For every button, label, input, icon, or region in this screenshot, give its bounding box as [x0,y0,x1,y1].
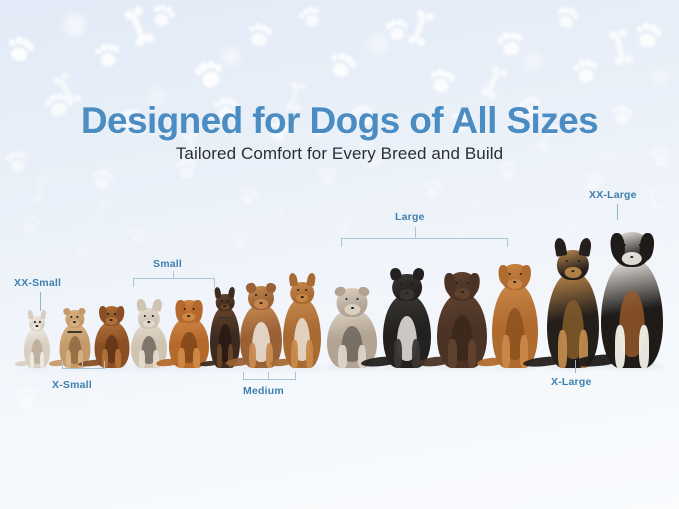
dog-front-leg [502,335,510,368]
dog-head [557,250,589,280]
dog-ear [412,267,426,282]
dog-eye [297,289,299,291]
dog-front-leg [291,340,297,368]
dog-collar [67,331,83,333]
dog-eye [566,260,568,262]
dog-german-shepherd [547,250,599,368]
dog-eye [255,294,257,296]
dog-ear [333,285,346,297]
dog-cocker-spaniel [169,300,209,368]
dog-ear [553,237,567,257]
dog-eye [70,316,72,318]
dog-ear [264,282,276,294]
dog-muzzle [622,252,642,265]
size-label-x-small-tick [82,361,83,369]
dog-nose [73,321,76,323]
dog-front-leg [448,339,457,369]
dog-eye [624,244,626,246]
dog-front-leg [249,343,256,368]
dog-vizsla [492,264,538,368]
size-label-xx-small-leader-line [40,292,41,311]
dog-front-leg [178,348,185,368]
dog-eye [638,244,640,246]
banner-image: Designed for Dogs of All Sizes Tailored … [0,0,679,509]
dog-nose [35,325,38,327]
size-label-medium-bracket [243,372,296,380]
dog-chocolate-lab [437,272,487,368]
dog-ear [63,307,72,316]
size-label-x-large-leader-line [575,360,576,373]
dog-staffordshire [240,286,282,368]
dog-head [613,232,651,267]
dog-head [248,286,274,310]
size-label-medium-tick [268,372,269,380]
dog-nose [631,256,634,258]
size-label-xx-small: XX-Small [14,277,61,289]
size-label-xx-large-leader-line [617,204,618,220]
dog-eye [39,321,41,323]
dog-head [216,294,235,311]
dog-eye [221,300,223,302]
dog-nose [148,321,151,323]
size-label-small-tick [173,271,174,279]
size-label-large-bracket [341,238,508,247]
dog-terrier-mix [59,310,90,368]
dog-collar [218,317,233,319]
dog-front-leg [468,339,477,369]
dog-ear [135,298,146,312]
dog-front-leg [338,345,347,368]
dog-eye [152,315,154,317]
dog-muzzle [565,267,582,278]
dog-eye [400,283,402,285]
dog-muzzle [508,279,523,289]
dog-nose [260,302,263,304]
dog-nose [187,315,190,317]
dog-head [392,274,422,301]
dog-nose [224,305,227,307]
dog-head [65,310,84,328]
dog-bernese [601,232,663,368]
dog-head [447,272,478,301]
dog-eye [509,273,511,275]
dog-eye [412,283,414,285]
dog-head [501,264,530,290]
dog-ear [389,267,403,282]
dog-front-leg [306,340,312,368]
dog-head [177,300,202,323]
dog-eye [192,308,194,310]
dog-eye [305,289,307,291]
dog-ear [288,272,298,287]
dog-front-leg [30,352,34,368]
dog-min-pinscher [210,294,240,368]
size-label-medium: Medium [243,385,284,397]
dog-ear [579,237,593,257]
dog-nose [571,270,574,272]
dog-dachshund [94,306,129,368]
dog-eye [345,298,347,300]
dog-nose [300,296,303,298]
dog-nose [461,291,464,293]
dog-head [29,316,45,331]
dog-eye [144,315,146,317]
dog-eye [114,313,116,315]
size-label-large-tick [415,227,416,238]
dog-ear [27,309,34,319]
dog-head [337,288,368,317]
dog-eye [578,260,580,262]
dog-ear [228,286,236,298]
dog-border-collie [383,274,431,368]
dog-basenji [283,282,321,368]
dog-eye [227,300,229,302]
dog-nose [406,292,409,294]
dog-ear [77,307,86,316]
dog-muzzle [344,304,360,315]
dog-head [138,308,160,329]
dog-eye [77,316,79,318]
dog-head [101,306,123,326]
dog-muzzle [399,289,414,299]
dog-head [290,282,314,304]
dog-front-leg [139,350,145,368]
dog-front-leg [558,330,567,368]
dog-muzzle [454,288,470,299]
dog-front-leg [639,325,650,368]
dog-front-leg [193,348,200,368]
size-label-xx-large: XX-Large [589,189,637,201]
dog-front-leg [615,325,626,368]
dog-ear [151,298,162,312]
dog-front-leg [40,352,44,368]
dog-front-leg [217,344,222,368]
dog-ear [306,272,316,287]
dog-front-leg [115,349,121,368]
dog-ear [358,285,371,297]
size-label-x-small-bracket [62,361,105,369]
dog-ear [214,286,222,298]
dog-eye [184,308,186,310]
dog-front-leg [394,339,402,368]
size-label-small-bracket [133,278,215,287]
dog-eye [107,313,109,315]
size-label-x-small: X-Small [52,379,92,391]
dog-ear [245,282,257,294]
dog-nose [110,319,113,321]
size-label-small: Small [153,258,182,270]
dog-eye [357,298,359,300]
size-label-x-large: X-Large [551,376,592,388]
dog-size-lineup [0,0,679,509]
dog-eye [33,321,35,323]
dog-nose [351,307,354,309]
dog-eye [265,294,267,296]
dog-eye [455,282,457,284]
size-label-large: Large [395,211,425,223]
dog-nose [513,281,516,283]
dog-chihuahua [24,316,50,368]
dog-english-bulldog [327,288,377,368]
dog-eye [519,273,521,275]
